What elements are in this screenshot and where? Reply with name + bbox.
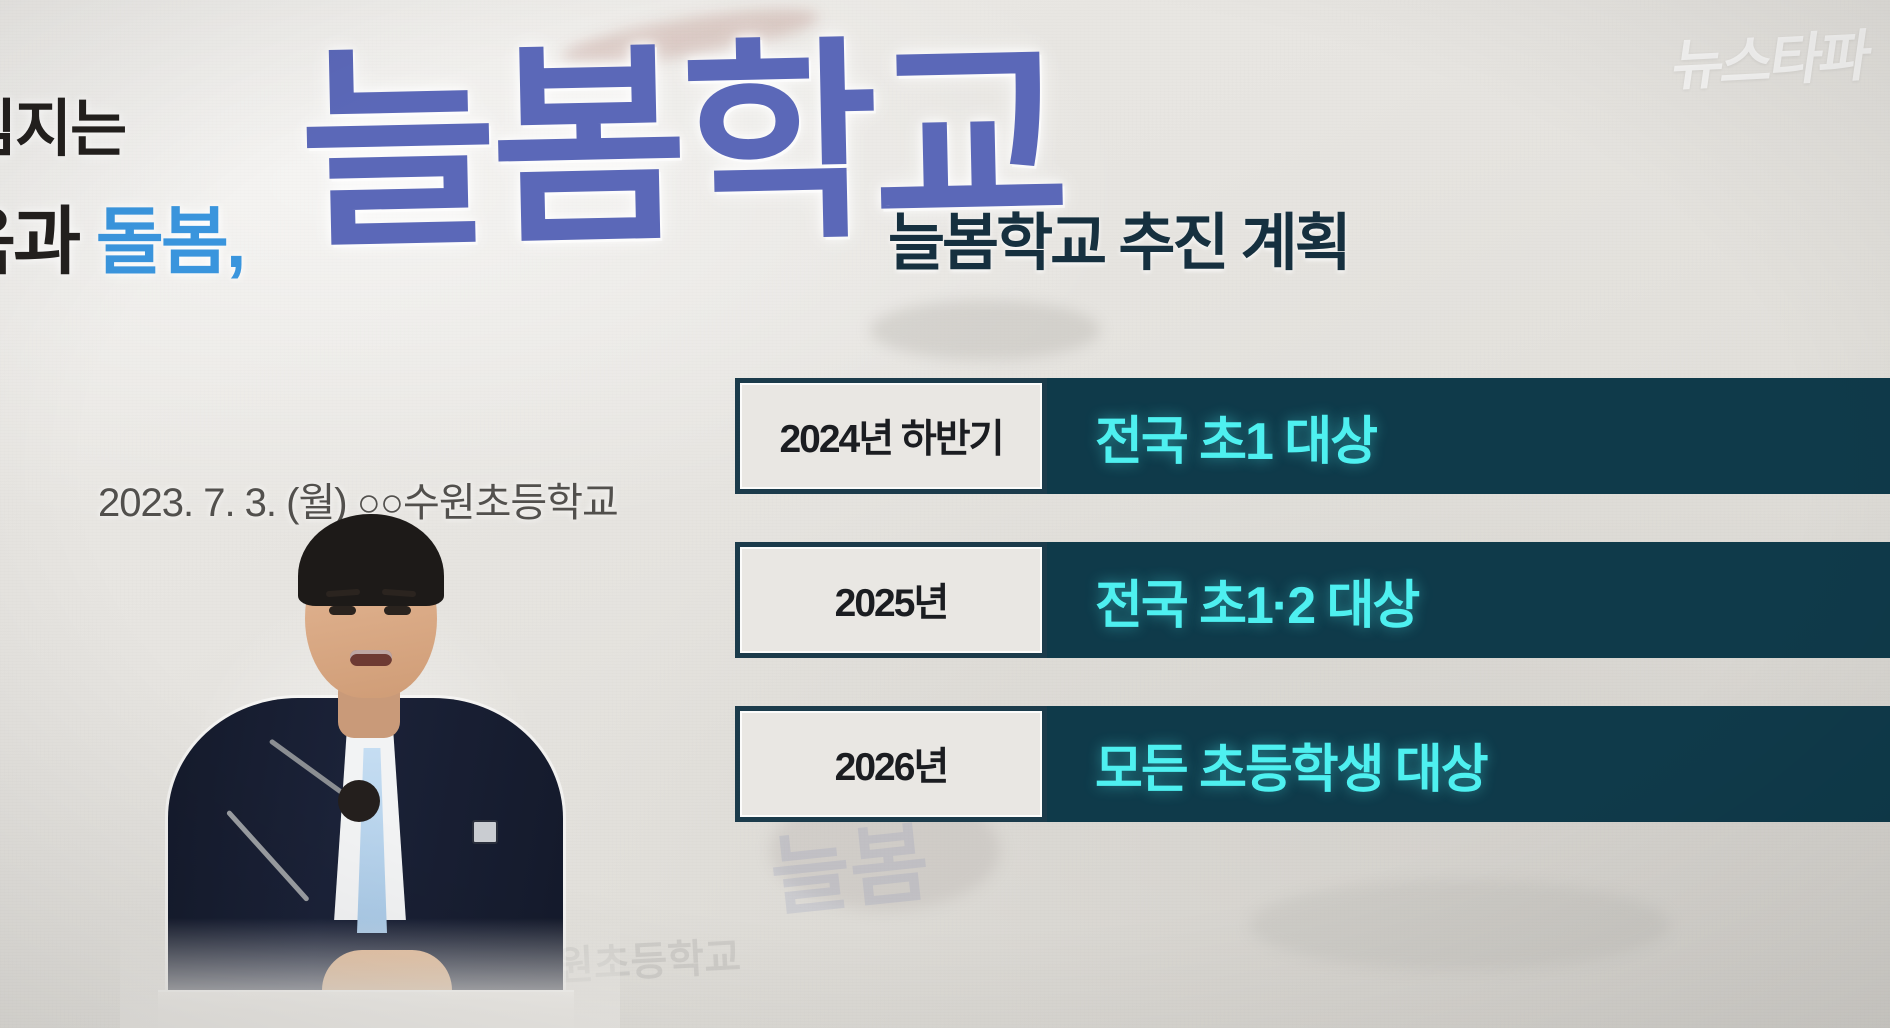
banner-slogan-line2-left: 육: [0, 200, 13, 283]
banner-slogan-line1-text: 임지는: [0, 95, 125, 164]
plan-target-cell: 모든 초등학생 대상: [1047, 706, 1890, 822]
speaker-photo: [150, 498, 580, 1028]
speaker-lapel-pin: [472, 820, 498, 844]
speaker-eye-right: [384, 606, 411, 615]
table-row: 2025년 전국 초1·2 대상: [735, 542, 1890, 658]
table-row: 2024년 하반기 전국 초1 대상: [735, 378, 1890, 494]
speaker-bottom-fade: [120, 918, 620, 1028]
plan-target-label: 전국 초1·2 대상: [1095, 563, 1418, 638]
banner-slogan-line2: 육과 돌봄,: [0, 182, 243, 289]
microphone-icon: [338, 780, 380, 822]
plan-target-label: 전국 초1 대상: [1095, 399, 1376, 474]
banner-slogan-line1: 임지는: [0, 78, 125, 168]
plan-target-cell: 전국 초1 대상: [1047, 378, 1890, 494]
plan-target-cell: 전국 초1·2 대상: [1047, 542, 1890, 658]
newstapa-watermark-logo: 뉴스타파: [1667, 11, 1874, 102]
plan-year-label: 2025년: [835, 572, 948, 628]
table-row: 2026년 모든 초등학생 대상: [735, 706, 1890, 822]
plan-table: 2024년 하반기 전국 초1 대상 2025년 전국 초1·2 대상 2026…: [735, 378, 1890, 870]
speaker-mouth: [350, 650, 392, 666]
page-title: 늘봄학교 추진 계획: [888, 192, 1349, 282]
plan-year-label: 2026년: [835, 736, 948, 792]
banner-slogan-line2-mid: 과: [13, 200, 78, 283]
speaker-eye-left: [329, 606, 356, 615]
plan-year-cell: 2024년 하반기: [735, 378, 1047, 494]
plan-year-label: 2024년 하반기: [779, 408, 1002, 464]
video-frame: 늘봄 수원초등학교 임지는 육과 돌봄, 늘봄학교 2023. 7. 3. (월…: [0, 0, 1890, 1028]
plan-target-label: 모든 초등학생 대상: [1095, 727, 1487, 802]
banner-slogan-line2-right: 돌봄,: [96, 200, 244, 283]
plan-year-cell: 2025년: [735, 542, 1047, 658]
plan-year-cell: 2026년: [735, 706, 1047, 822]
